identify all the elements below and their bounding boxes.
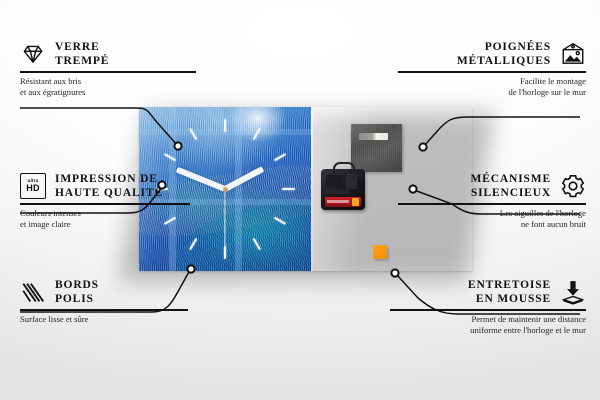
metal-hanger-plate bbox=[351, 124, 402, 172]
clock-tick bbox=[225, 188, 295, 190]
feature-subtitle: Les aiguilles de l'horlogene font aucun … bbox=[386, 208, 586, 231]
polished-edges-icon bbox=[20, 279, 46, 305]
battery-plus-terminal bbox=[352, 198, 359, 206]
feature-header: ultra HD IMPRESSION DEHAUTE QUALITÉ bbox=[20, 172, 220, 200]
feature-subtitle: Facilite le montagede l'horloge sur le m… bbox=[386, 76, 586, 99]
infographic-canvas: VERRETREMPÉ Résistant aux briset aux égr… bbox=[0, 0, 600, 400]
mechanism-detail bbox=[326, 189, 349, 194]
gear-icon bbox=[560, 173, 586, 199]
battery bbox=[325, 197, 361, 207]
clock-face-highlight bbox=[228, 107, 286, 143]
feature-subtitle: Permet de maintenir une distanceuniforme… bbox=[381, 314, 586, 337]
feature-rule bbox=[398, 71, 586, 73]
feature-subtitle: Surface lisse et sûre bbox=[20, 314, 210, 326]
feature-subtitle: Résistant aux briset aux égratignures bbox=[20, 76, 210, 99]
feature-poignees-metalliques: POIGNÉESMÉTALLIQUES Facilite le montaged… bbox=[386, 40, 586, 99]
feature-verre-trempe: VERRETREMPÉ Résistant aux briset aux égr… bbox=[20, 40, 210, 99]
clock-mechanism-box bbox=[321, 169, 365, 210]
hanger-slot bbox=[359, 133, 388, 140]
feature-rule bbox=[398, 203, 586, 205]
feature-title: VERRETREMPÉ bbox=[55, 40, 109, 68]
clock-tick bbox=[224, 119, 226, 189]
foam-spacer bbox=[373, 245, 387, 259]
feature-rule bbox=[390, 309, 586, 311]
mechanism-detail bbox=[326, 175, 343, 187]
mechanism-detail bbox=[346, 173, 357, 189]
feature-entretoise-en-mousse: ENTRETOISEEN MOUSSE Permet de maintenir … bbox=[381, 278, 586, 337]
feature-subtitle: Couleurs intenseset image claire bbox=[20, 208, 220, 231]
feature-header: MÉCANISMESILENCIEUX bbox=[386, 172, 586, 200]
feature-header: ENTRETOISEEN MOUSSE bbox=[381, 278, 586, 306]
feature-title: BORDSPOLIS bbox=[55, 278, 99, 306]
foam-spacer-icon bbox=[560, 279, 586, 305]
feature-header: BORDSPOLIS bbox=[20, 278, 210, 306]
feature-rule bbox=[20, 309, 188, 311]
feature-mecanisme-silencieux: MÉCANISMESILENCIEUX Les aiguilles de l'h… bbox=[386, 172, 586, 231]
battery-label bbox=[327, 200, 349, 203]
diamond-icon bbox=[20, 41, 46, 67]
feature-title: ENTRETOISEEN MOUSSE bbox=[468, 278, 551, 306]
ultra-hd-icon: ultra HD bbox=[20, 173, 46, 199]
feature-rule bbox=[20, 203, 190, 205]
hanger-plate-grain bbox=[351, 124, 402, 172]
feature-header: POIGNÉESMÉTALLIQUES bbox=[386, 40, 586, 68]
feature-title: IMPRESSION DEHAUTE QUALITÉ bbox=[55, 172, 163, 200]
feature-title: MÉCANISMESILENCIEUX bbox=[471, 172, 552, 200]
feature-header: VERRETREMPÉ bbox=[20, 40, 210, 68]
panel-seam bbox=[311, 107, 313, 271]
feature-title: POIGNÉESMÉTALLIQUES bbox=[457, 40, 551, 68]
picture-hanger-icon bbox=[560, 41, 586, 67]
feature-bords-polis: BORDSPOLIS Surface lisse et sûre bbox=[20, 278, 210, 325]
feature-impression-haute-qualite: ultra HD IMPRESSION DEHAUTE QUALITÉ Coul… bbox=[20, 172, 220, 231]
ultra-hd-bottom-label: HD bbox=[26, 184, 40, 193]
clock-center-cap bbox=[223, 187, 228, 192]
feature-rule bbox=[20, 71, 196, 73]
